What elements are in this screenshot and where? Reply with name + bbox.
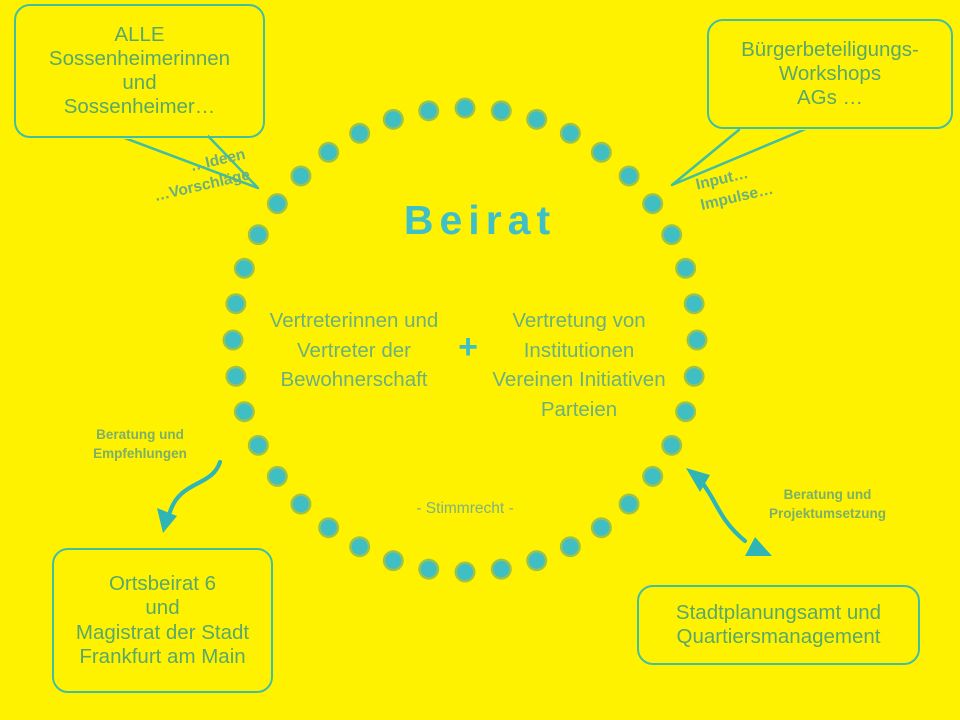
ring-dot bbox=[352, 539, 368, 555]
ring-dot-rim bbox=[455, 98, 476, 119]
ring-dot bbox=[493, 561, 509, 577]
ring-dot bbox=[228, 296, 244, 312]
box-ortsbeirat-magistrat: Ortsbeirat 6 und Magistrat der Stadt Fra… bbox=[52, 548, 273, 693]
ring-dot bbox=[621, 168, 637, 184]
ring-dot-rim bbox=[619, 165, 640, 186]
annotation-beratung-projektumsetzung: Beratung und Projektumsetzung bbox=[745, 486, 910, 524]
ring-dot-rim bbox=[675, 258, 696, 279]
ring-dot bbox=[493, 103, 509, 119]
ring-dot bbox=[293, 496, 309, 512]
ring-dot bbox=[645, 468, 661, 484]
ring-dot bbox=[529, 553, 545, 569]
ring-dot-rim bbox=[418, 100, 439, 121]
ring-dot-rim bbox=[687, 330, 708, 351]
ring-dot-rim bbox=[642, 466, 663, 487]
ring-dot bbox=[457, 100, 473, 116]
ring-dot bbox=[225, 332, 241, 348]
annotation-beratung-empfehlungen: Beratung und Empfehlungen bbox=[75, 426, 205, 464]
ring-dot-rim bbox=[223, 330, 244, 351]
ring-dot bbox=[562, 539, 578, 555]
ring-dot-rim bbox=[290, 165, 311, 186]
ring-dot-rim bbox=[290, 494, 311, 515]
ring-dot bbox=[293, 168, 309, 184]
speech-bubble-buergerbeteiligungs-workshops: Bürgerbeteiligungs- Workshops AGs … bbox=[707, 19, 953, 129]
ring-dot bbox=[529, 111, 545, 127]
ring-dot bbox=[352, 125, 368, 141]
ring-dot bbox=[621, 496, 637, 512]
ring-dot-rim bbox=[248, 435, 269, 456]
arrow-beratung-empfehlungen bbox=[157, 462, 220, 533]
ring-dot bbox=[421, 103, 437, 119]
ring-dot-rim bbox=[675, 401, 696, 422]
ring-dot-rim bbox=[591, 142, 612, 163]
ring-dot-rim bbox=[661, 435, 682, 456]
ring-dot-rim bbox=[349, 123, 370, 144]
ring-dot-rim bbox=[349, 536, 370, 557]
ring-dot-rim bbox=[267, 466, 288, 487]
diagram-canvas: ALLE Sossenheimerinnen und Sossenheimer…… bbox=[0, 0, 960, 720]
ring-dot-rim bbox=[318, 142, 339, 163]
ring-dot-rim bbox=[491, 559, 512, 580]
ring-dot bbox=[678, 404, 694, 420]
ring-dot bbox=[689, 332, 705, 348]
ring-dot-rim bbox=[383, 109, 404, 130]
center-left-column-bewohnerschaft: Vertreterinnen und Vertreter der Bewohne… bbox=[258, 306, 450, 395]
box-ortsbeirat-text: Ortsbeirat 6 und Magistrat der Stadt Fra… bbox=[54, 572, 271, 669]
speech-bubble-workshops-text: Bürgerbeteiligungs- Workshops AGs … bbox=[709, 38, 951, 111]
ring-dot bbox=[236, 404, 252, 420]
ring-dot bbox=[678, 260, 694, 276]
ring-dot bbox=[421, 561, 437, 577]
ring-dot bbox=[593, 520, 609, 536]
ring-dot bbox=[664, 437, 680, 453]
ring-dot bbox=[228, 368, 244, 384]
ring-dot-rim bbox=[491, 100, 512, 121]
plus-icon: + bbox=[448, 327, 488, 367]
ring-dot-rim bbox=[526, 109, 547, 130]
ring-dot bbox=[250, 437, 266, 453]
ring-dot bbox=[321, 144, 337, 160]
ring-dot-rim bbox=[560, 536, 581, 557]
ring-dot bbox=[385, 111, 401, 127]
ring-dot-rim bbox=[526, 550, 547, 571]
ring-dot-rim bbox=[684, 293, 705, 314]
ring-dot-rim bbox=[234, 258, 255, 279]
ring-dot bbox=[686, 368, 702, 384]
ring-dot bbox=[236, 260, 252, 276]
ring-dot bbox=[269, 468, 285, 484]
ring-dot bbox=[457, 564, 473, 580]
box-stadtplanungsamt-quartiersmanagement: Stadtplanungsamt und Quartiersmanagement bbox=[637, 585, 920, 665]
center-right-column-institutionen: Vertretung von Institutionen Vereinen In… bbox=[483, 306, 675, 425]
speech-bubble-alle-text: ALLE Sossenheimerinnen und Sossenheimer… bbox=[16, 23, 263, 120]
ring-dot bbox=[686, 296, 702, 312]
ring-dot bbox=[593, 144, 609, 160]
ring-dot-rim bbox=[560, 123, 581, 144]
ring-dot-rim bbox=[225, 293, 246, 314]
ring-dot-rim bbox=[383, 550, 404, 571]
ring-dot-rim bbox=[619, 494, 640, 515]
ring-dot bbox=[321, 520, 337, 536]
ring-dot-rim bbox=[684, 366, 705, 387]
ring-dot-rim bbox=[455, 562, 476, 583]
ring-dot-rim bbox=[318, 517, 339, 538]
ring-dot-rim bbox=[225, 366, 246, 387]
ring-dot-rim bbox=[234, 401, 255, 422]
ring-dot bbox=[385, 553, 401, 569]
ring-dot-rim bbox=[591, 517, 612, 538]
ring-dot-rim bbox=[418, 559, 439, 580]
ring-dot bbox=[562, 125, 578, 141]
center-footnote-stimmrecht: - Stimmrecht - bbox=[350, 500, 580, 518]
box-stadtplanung-text: Stadtplanungsamt und Quartiersmanagement bbox=[639, 601, 918, 649]
speech-bubble-alle-sossenheimer: ALLE Sossenheimerinnen und Sossenheimer… bbox=[14, 4, 265, 138]
